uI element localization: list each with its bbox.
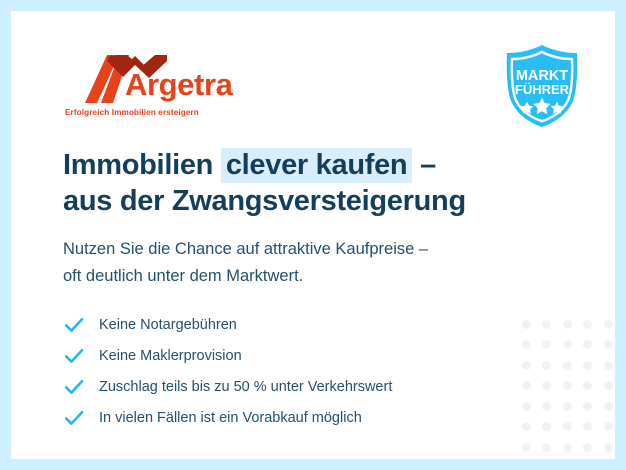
dot-decoration bbox=[578, 376, 599, 397]
dot-decoration bbox=[578, 437, 599, 458]
page-title: Immobilien clever kaufen – aus der Zwang… bbox=[63, 147, 543, 219]
subheading-line-1: Nutzen Sie die Chance auf attraktive Kau… bbox=[63, 236, 563, 263]
list-item: Keine Notargebühren bbox=[63, 309, 543, 340]
dot-decoration bbox=[598, 417, 615, 438]
dot-decoration bbox=[598, 314, 615, 335]
dot bbox=[542, 340, 551, 349]
dot bbox=[583, 340, 592, 349]
dot-decoration bbox=[516, 437, 537, 458]
dot bbox=[604, 443, 613, 452]
dot bbox=[583, 402, 592, 411]
dot bbox=[542, 381, 551, 390]
dot-decoration bbox=[516, 458, 537, 460]
dot bbox=[542, 422, 551, 431]
banner-card: Argetra Erfolgreich Immobilien ersteiger… bbox=[11, 11, 615, 459]
dot-decoration bbox=[598, 396, 615, 417]
dot bbox=[604, 340, 613, 349]
market-leader-badge: MARKT FÜHRER bbox=[500, 43, 584, 129]
headline-suffix: – bbox=[412, 149, 436, 181]
headline-line-1: Immobilien clever kaufen – bbox=[63, 147, 543, 183]
dot bbox=[542, 402, 551, 411]
dot bbox=[583, 320, 592, 329]
dot bbox=[563, 361, 572, 370]
benefit-list: Keine NotargebührenKeine Maklerprovision… bbox=[63, 309, 543, 433]
dot bbox=[563, 443, 572, 452]
dot-decoration bbox=[557, 396, 578, 417]
subheading-line-2: oft deutlich unter dem Marktwert. bbox=[63, 263, 563, 290]
list-item-label: Zuschlag teils bis zu 50 % unter Verkehr… bbox=[99, 377, 392, 397]
dot-decoration bbox=[598, 335, 615, 356]
dot-decoration bbox=[578, 355, 599, 376]
dot-decoration bbox=[557, 376, 578, 397]
list-item-label: Keine Notargebühren bbox=[99, 315, 237, 335]
dot bbox=[583, 443, 592, 452]
dot bbox=[583, 422, 592, 431]
dot-decoration bbox=[537, 458, 558, 460]
badge-line2: FÜHRER bbox=[515, 82, 570, 97]
dot bbox=[583, 381, 592, 390]
dot bbox=[604, 320, 613, 329]
check-icon bbox=[63, 314, 85, 336]
promo-banner: Argetra Erfolgreich Immobilien ersteiger… bbox=[0, 0, 626, 470]
dot-decoration bbox=[598, 376, 615, 397]
list-item: Keine Maklerprovision bbox=[63, 340, 543, 371]
dot-decoration bbox=[557, 458, 578, 460]
dot bbox=[563, 320, 572, 329]
dot bbox=[563, 340, 572, 349]
dot-decoration bbox=[557, 437, 578, 458]
shield-badge-icon: MARKT FÜHRER bbox=[500, 43, 584, 129]
dot-decoration bbox=[578, 314, 599, 335]
dot-decoration bbox=[578, 458, 599, 460]
headline-line-2: aus der Zwangsversteigerung bbox=[63, 183, 543, 219]
dot-decoration bbox=[537, 437, 558, 458]
dot bbox=[563, 402, 572, 411]
dot bbox=[542, 320, 551, 329]
dot-decoration bbox=[557, 417, 578, 438]
dot-decoration bbox=[578, 417, 599, 438]
headline-prefix: Immobilien bbox=[63, 149, 221, 181]
logo-tagline: Erfolgreich Immobilien ersteigern bbox=[65, 108, 199, 117]
dot bbox=[583, 361, 592, 370]
list-item-label: Keine Maklerprovision bbox=[99, 346, 242, 366]
check-icon bbox=[63, 345, 85, 367]
dot bbox=[604, 381, 613, 390]
dot bbox=[522, 443, 531, 452]
dot-decoration bbox=[557, 355, 578, 376]
dot bbox=[563, 422, 572, 431]
headline-highlight: clever kaufen bbox=[221, 148, 413, 183]
argetra-logo[interactable]: Argetra Erfolgreich Immobilien ersteiger… bbox=[63, 55, 253, 121]
dot-decoration bbox=[557, 314, 578, 335]
list-item: Zuschlag teils bis zu 50 % unter Verkehr… bbox=[63, 371, 543, 402]
dot bbox=[604, 402, 613, 411]
check-icon bbox=[63, 407, 85, 429]
dot bbox=[604, 422, 613, 431]
dot bbox=[604, 361, 613, 370]
dot-decoration bbox=[578, 335, 599, 356]
dot-decoration bbox=[598, 355, 615, 376]
dot-decoration bbox=[578, 396, 599, 417]
dot-decoration bbox=[598, 458, 615, 460]
dot bbox=[542, 361, 551, 370]
list-item: In vielen Fällen ist ein Vorabkauf mögli… bbox=[63, 402, 543, 433]
list-item-label: In vielen Fällen ist ein Vorabkauf mögli… bbox=[99, 408, 362, 428]
dot-decoration bbox=[557, 335, 578, 356]
check-icon bbox=[63, 376, 85, 398]
subheading: Nutzen Sie die Chance auf attraktive Kau… bbox=[63, 236, 563, 290]
logo-wordmark: Argetra bbox=[125, 69, 232, 100]
dot-decoration bbox=[598, 437, 615, 458]
dot bbox=[542, 443, 551, 452]
dot bbox=[563, 381, 572, 390]
